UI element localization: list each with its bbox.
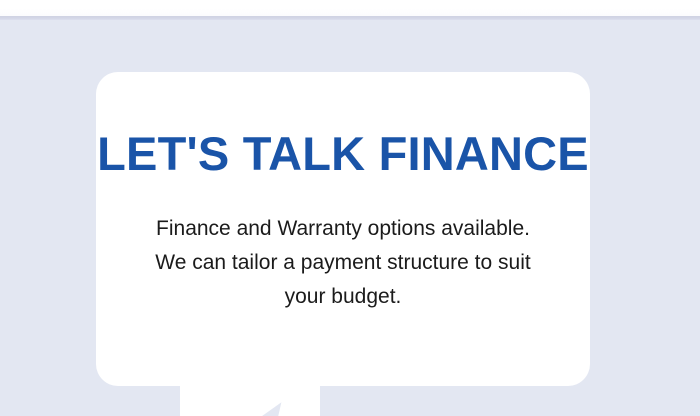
body-copy: Finance and Warranty options available. … (118, 212, 568, 314)
body-line-2: We can tailor a payment structure to sui… (118, 246, 568, 280)
speech-bubble: LET'S TALK FINANCE Finance and Warranty … (96, 72, 590, 386)
body-line-3: your budget. (118, 280, 568, 314)
body-line-1: Finance and Warranty options available. (118, 212, 568, 246)
promo-banner: LET'S TALK FINANCE Finance and Warranty … (0, 0, 700, 416)
top-white-strip (0, 0, 700, 16)
headline: LET'S TALK FINANCE (96, 130, 590, 177)
speech-bubble-tail (180, 382, 320, 416)
speech-bubble-content: LET'S TALK FINANCE Finance and Warranty … (96, 72, 590, 386)
